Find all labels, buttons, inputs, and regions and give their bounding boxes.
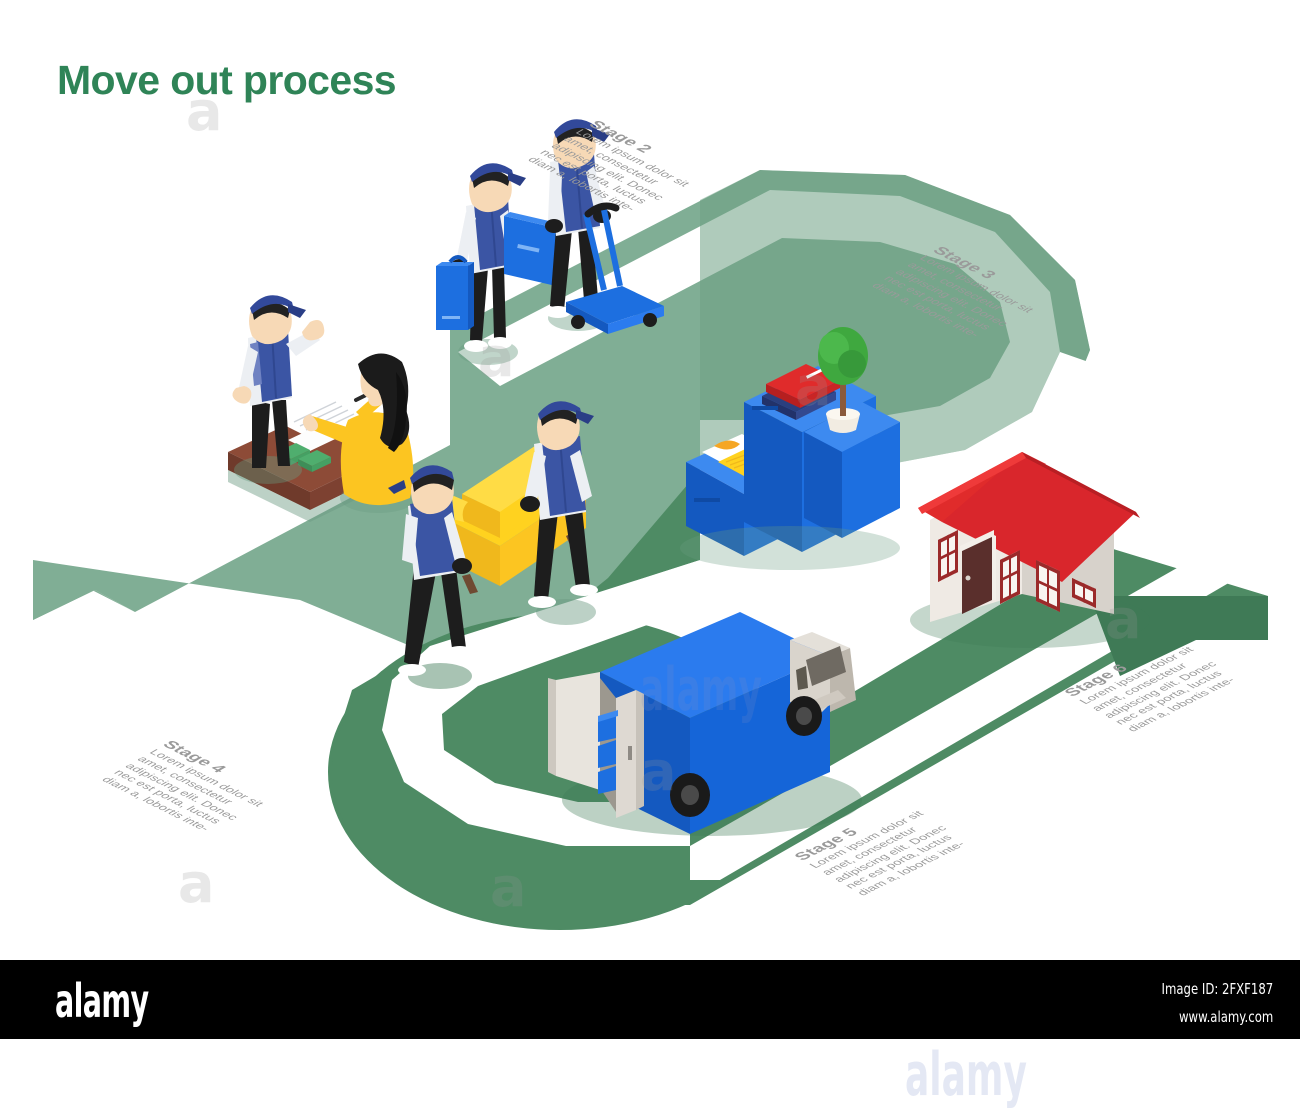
truck-interior-boxes — [598, 710, 618, 794]
alamy-logo: alamy — [55, 974, 148, 1028]
image-id-text: Image ID: 2FXF187 — [1161, 976, 1273, 1004]
website-text: www.alamy.com — [1161, 1004, 1273, 1032]
footer-meta: Image ID: 2FXF187 www.alamy.com — [1130, 976, 1273, 1032]
watermark-word: alamy — [905, 1040, 1027, 1110]
infographic-canvas: Move out process Stage 1 Lorem ipsum dol… — [0, 0, 1300, 1039]
page-title: Move out process — [57, 57, 396, 104]
blue-case-left — [436, 257, 474, 330]
scene-stage-1 — [228, 295, 416, 522]
footer-bar: alamy Image ID: 2FXF187 www.alamy.com — [0, 960, 1300, 1039]
